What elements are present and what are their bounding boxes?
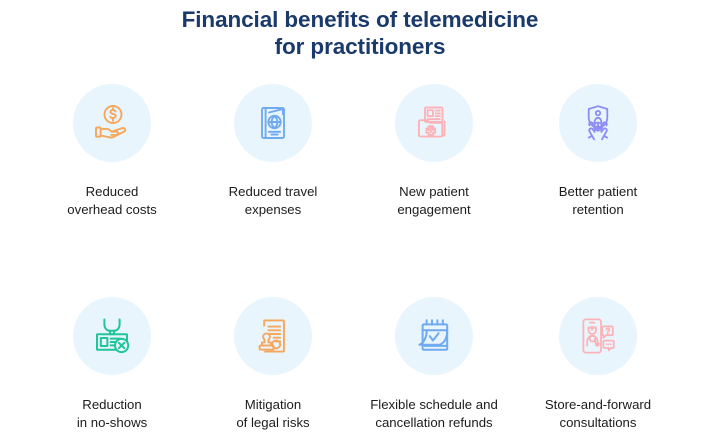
- benefits-grid: Reduced overhead costs: [0, 84, 720, 432]
- benefit-icon-badge: [73, 84, 151, 162]
- hand-holding-dollar-coin-icon: [90, 101, 134, 145]
- benefit-item-store-and-forward-consultations: Store-and-forward consultations: [508, 297, 688, 432]
- benefit-icon-badge: [73, 297, 151, 375]
- benefit-item-reduction-in-no-shows: Reduction in no-shows: [22, 297, 202, 432]
- benefit-label: Better patient retention: [559, 183, 637, 219]
- benefit-icon-badge: [395, 297, 473, 375]
- page-title: Financial benefits of telemedicine for p…: [0, 6, 720, 60]
- page-title-line-1: Financial benefits of telemedicine: [0, 6, 720, 33]
- benefit-label: Reduced overhead costs: [67, 183, 156, 219]
- benefit-item-mitigation-of-legal-risks: Mitigation of legal risks: [183, 297, 363, 432]
- calendar-check-icon: [412, 314, 456, 358]
- page-title-line-2: for practitioners: [0, 33, 720, 60]
- phone-doctor-chat-icon: [576, 314, 620, 358]
- benefit-icon-badge: [559, 297, 637, 375]
- benefits-row-top: Reduced overhead costs: [0, 84, 720, 219]
- benefit-label: New patient engagement: [397, 183, 470, 219]
- benefit-icon-badge: [559, 84, 637, 162]
- benefit-icon-badge: [395, 84, 473, 162]
- benefit-item-reduced-overhead-costs: Reduced overhead costs: [22, 84, 202, 219]
- infographic-page: Financial benefits of telemedicine for p…: [0, 0, 720, 406]
- shield-patient-hands-icon: [576, 101, 620, 145]
- benefit-icon-badge: [234, 84, 312, 162]
- benefit-label: Reduction in no-shows: [77, 396, 147, 432]
- legal-document-stamp-icon: [251, 314, 295, 358]
- benefit-label: Reduced travel expenses: [229, 183, 318, 219]
- benefit-label: Flexible schedule and cancellation refun…: [370, 396, 498, 432]
- benefit-item-flexible-schedule-and-cancellation-refunds: Flexible schedule and cancellation refun…: [344, 297, 524, 432]
- benefit-item-better-patient-retention: Better patient retention: [508, 84, 688, 219]
- benefits-row-bottom: Reduction in no-shows: [0, 297, 720, 432]
- benefit-label: Store-and-forward consultations: [545, 396, 651, 432]
- benefit-label: Mitigation of legal risks: [236, 396, 309, 432]
- medical-record-folder-icon: [412, 101, 456, 145]
- benefit-item-new-patient-engagement: New patient engagement: [344, 84, 524, 219]
- passport-globe-icon: [251, 101, 295, 145]
- id-badge-cancel-icon: [90, 314, 134, 358]
- benefit-icon-badge: [234, 297, 312, 375]
- benefit-item-reduced-travel-expenses: Reduced travel expenses: [183, 84, 363, 219]
